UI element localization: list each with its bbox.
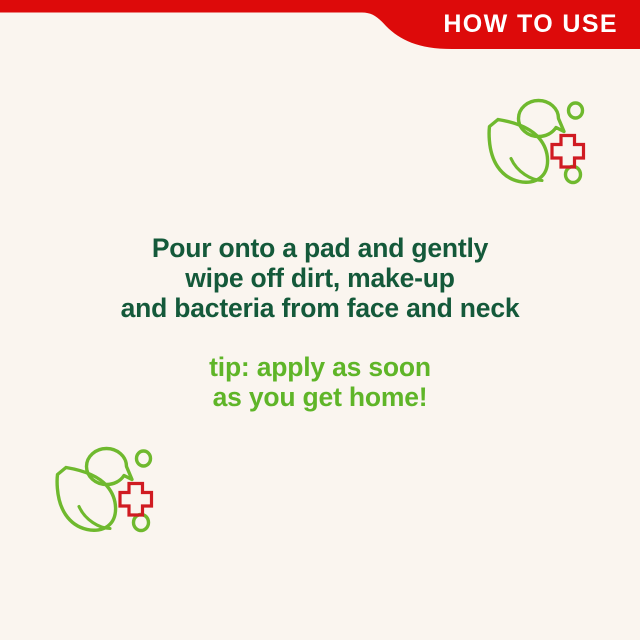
- leaf-cross-icon-graphic: [52, 444, 156, 540]
- leaf-cross-icon-bottom-left: [52, 444, 156, 540]
- tip-text-block: tip: apply as soon as you get home!: [0, 352, 640, 412]
- medical-cross-shape: [120, 484, 152, 516]
- leaf-cross-icon-top-right: [484, 96, 588, 192]
- small-circle-bottom: [566, 167, 581, 183]
- large-leaf-shape: [57, 468, 115, 531]
- small-circle-top: [137, 451, 151, 466]
- large-leaf-shape: [489, 120, 547, 183]
- instruction-line-1: Pour onto a pad and gently: [0, 233, 640, 263]
- banner-title: HOW TO USE: [443, 11, 618, 38]
- small-leaf-shape: [87, 449, 133, 485]
- header-banner: HOW TO USE: [0, 0, 640, 52]
- tip-line-2: as you get home!: [0, 382, 640, 412]
- instruction-line-2: wipe off dirt, make-up: [0, 263, 640, 293]
- instruction-line-3: and bacteria from face and neck: [0, 293, 640, 323]
- leaf-cross-icon-graphic: [484, 96, 588, 192]
- medical-cross-shape: [552, 136, 584, 168]
- small-leaf-shape: [519, 101, 565, 137]
- instruction-text-block: Pour onto a pad and gently wipe off dirt…: [0, 233, 640, 323]
- leaf-vein: [511, 159, 542, 181]
- tip-line-1: tip: apply as soon: [0, 352, 640, 382]
- small-circle-top: [569, 103, 583, 118]
- leaf-vein: [79, 507, 110, 529]
- small-circle-bottom: [134, 515, 149, 531]
